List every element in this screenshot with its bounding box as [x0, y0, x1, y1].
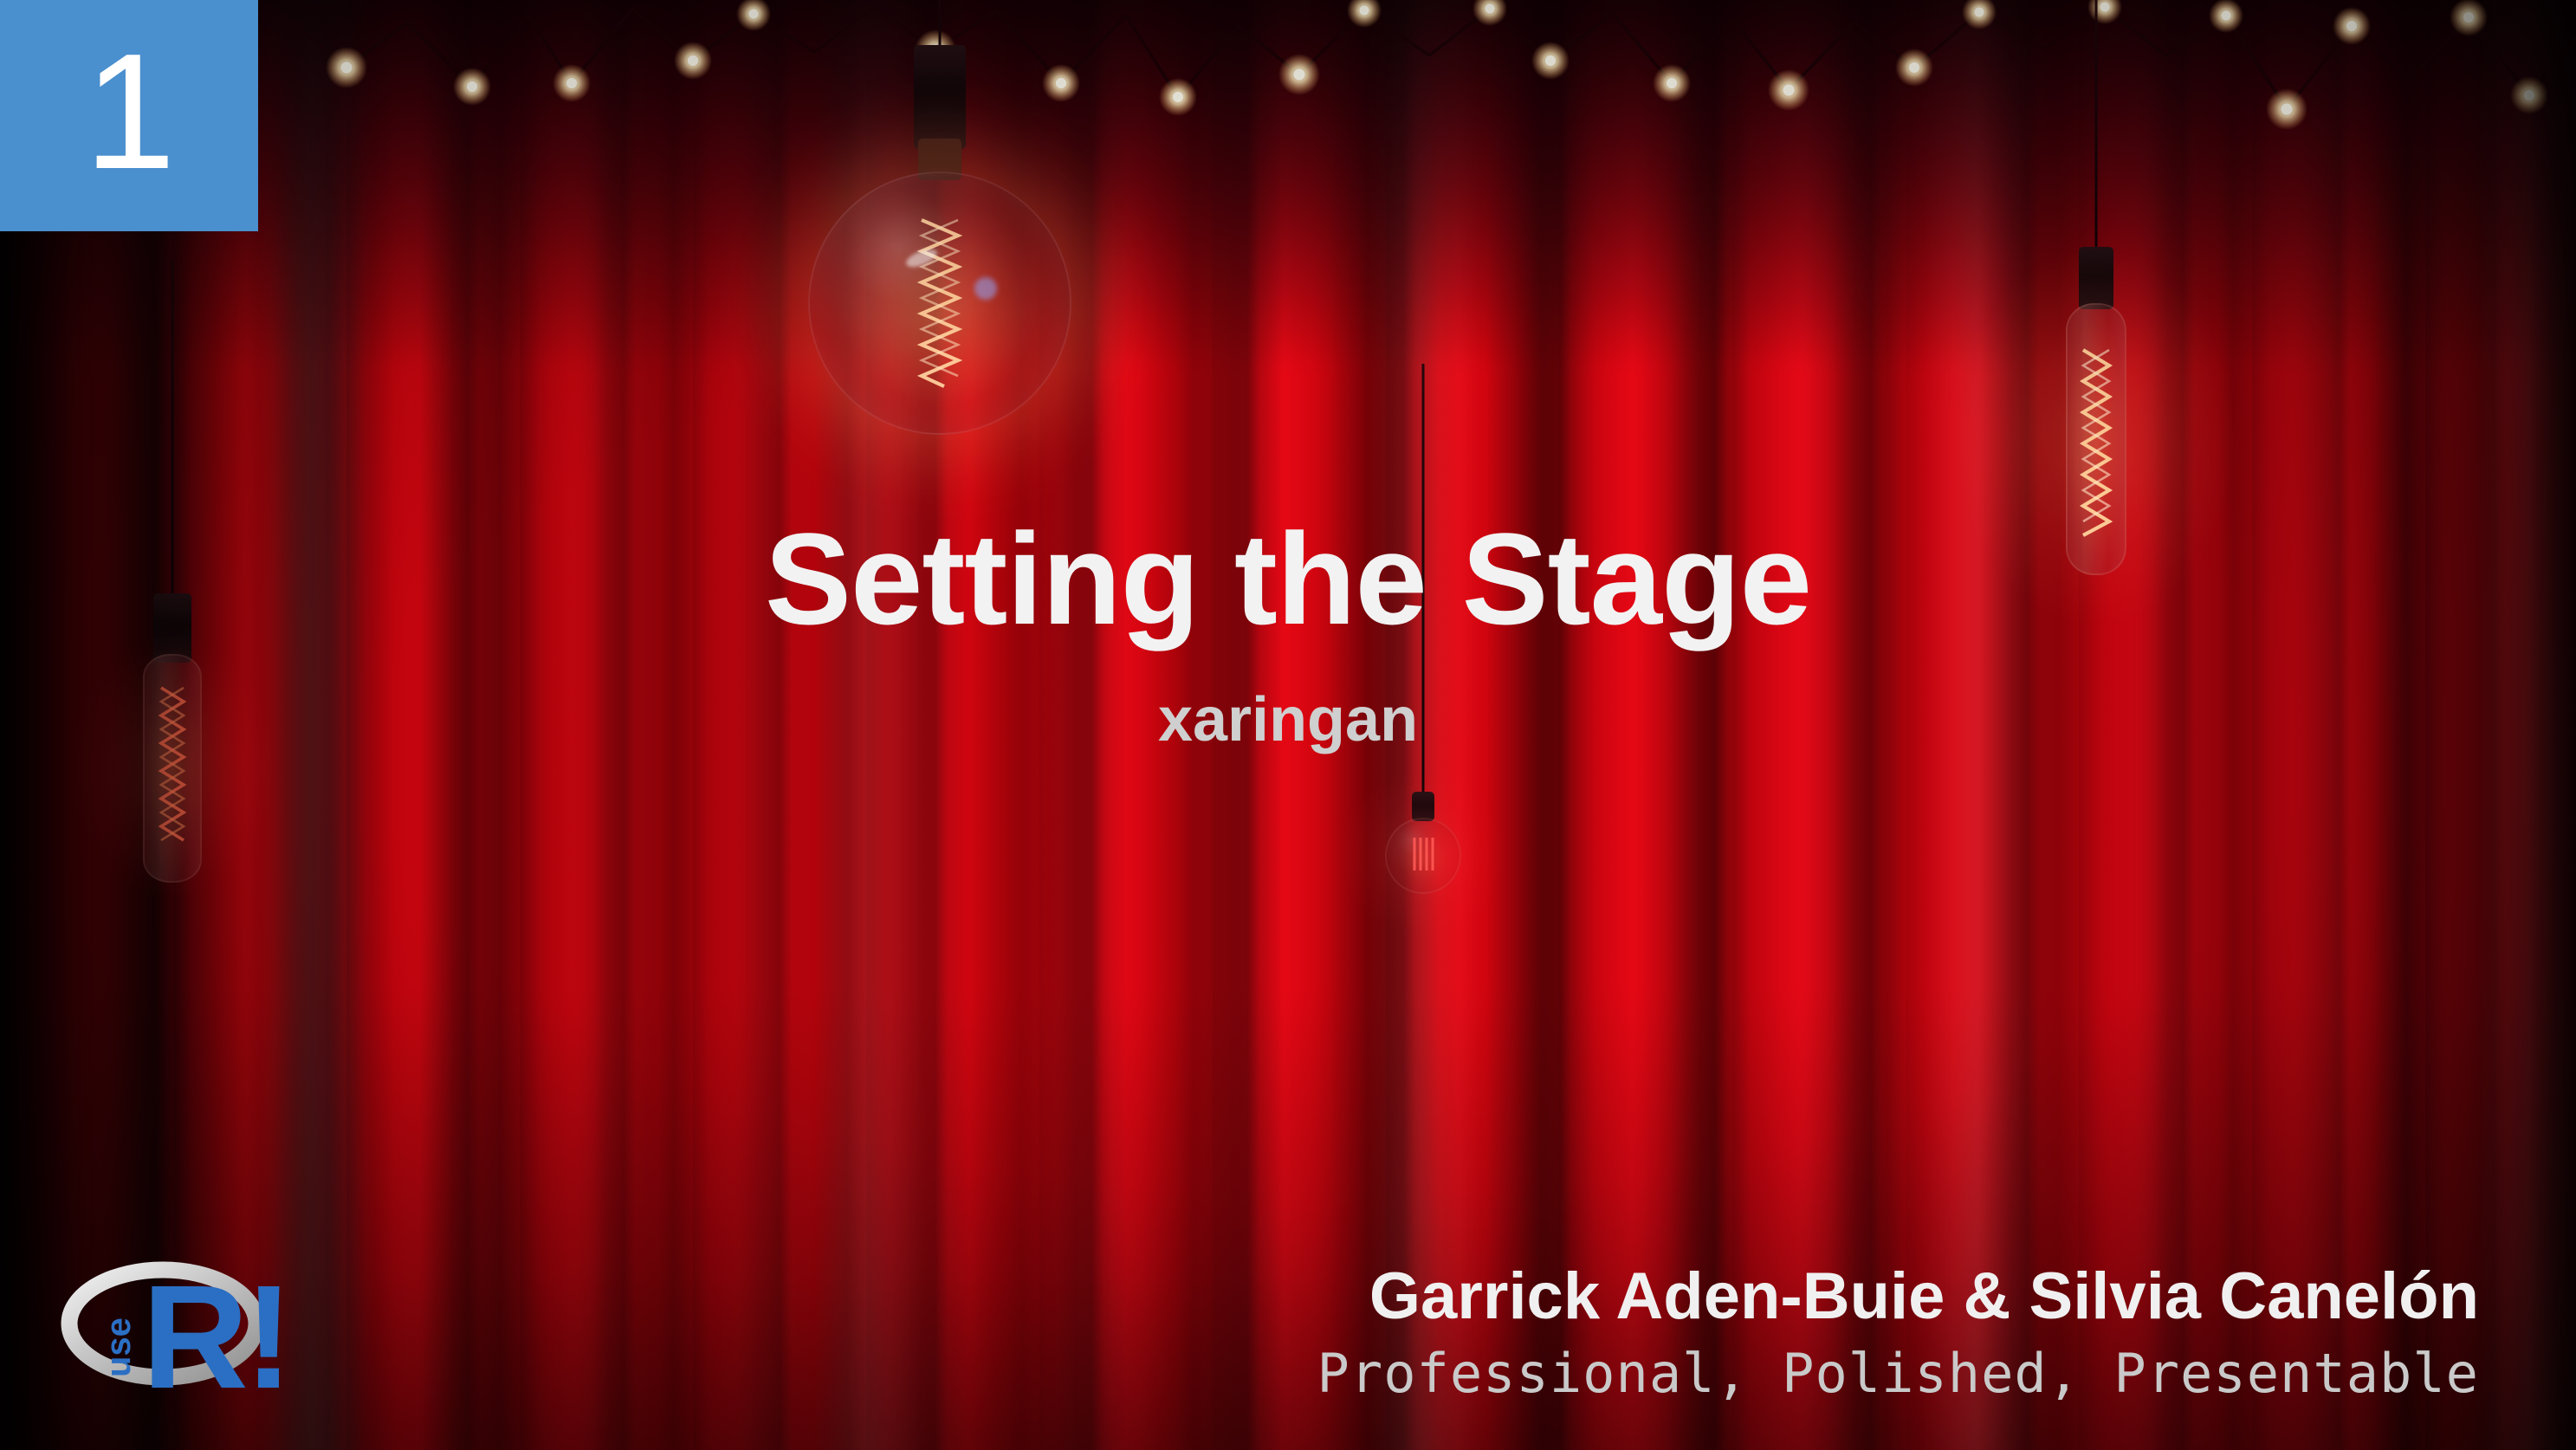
bulb-filament [915, 217, 965, 390]
bulb-cord [939, 0, 942, 50]
author-names: Garrick Aden-Buie & Silvia Canelón [1317, 1259, 2479, 1333]
bulb-filament [1410, 836, 1436, 872]
bulb-socket [914, 45, 966, 149]
slide-title: Setting the Stage [0, 511, 2576, 648]
logo-bang-text: ! [244, 1255, 291, 1414]
logo-use-text: use [100, 1317, 138, 1377]
user-conference-logo: use R ! [59, 1232, 291, 1414]
bulb-socket [1412, 792, 1434, 821]
bulb-center-globe [801, 0, 1078, 485]
title-block: Setting the Stage xaringan [0, 511, 2576, 755]
bulb-blue-reflection [974, 277, 997, 300]
slide-number-badge: 1 [0, 0, 258, 231]
bulb-filament [2079, 346, 2113, 539]
author-block: Garrick Aden-Buie & Silvia Canelón Profe… [1317, 1259, 2479, 1405]
presentation-slide: 1 Setting the Stage xaringan Garrick Ade… [0, 0, 2576, 1450]
logo-r-text: R [142, 1255, 249, 1414]
author-tagline: Professional, Polished, Presentable [1317, 1342, 2479, 1405]
bulb-socket [2079, 247, 2113, 309]
string-lights [0, 0, 2576, 312]
slide-number-text: 1 [84, 29, 174, 194]
bulb-cord [2095, 0, 2098, 251]
slide-subtitle: xaringan [0, 684, 2576, 755]
